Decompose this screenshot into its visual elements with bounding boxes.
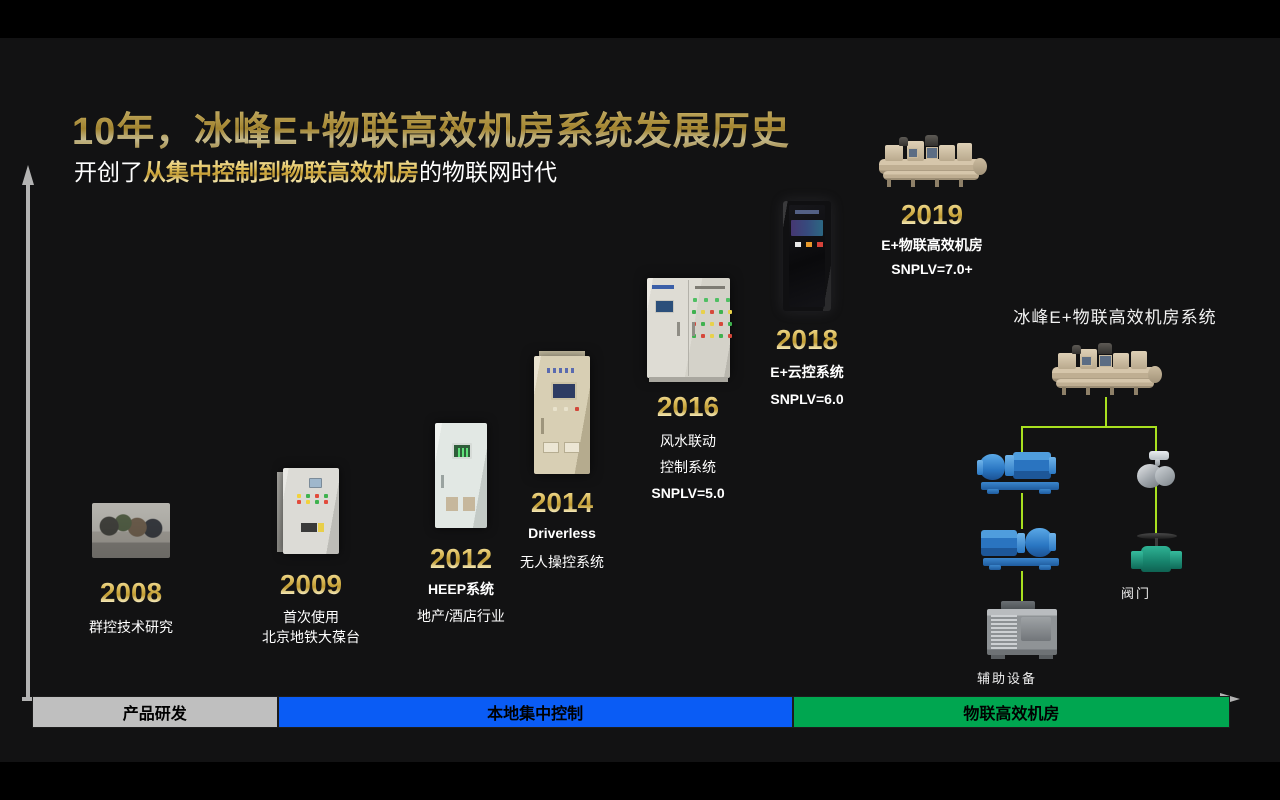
subtitle-highlight: 从集中控制到物联高效机房 [143, 159, 419, 185]
milestone-2019[interactable]: 2019 E+物联高效机房 SNPLV=7.0+ [853, 133, 1011, 279]
wire-pump2-to-aux [1021, 571, 1023, 603]
wire-valve1-to-valve2 [1155, 486, 1157, 534]
centrifugal-chiller-icon [877, 133, 987, 188]
phase-label: 物联高效机房 [963, 700, 1059, 724]
phase-bar: 产品研发 本地集中控制 物联高效机房 [32, 696, 1230, 728]
milestone-desc-line: 群控技术研究 [52, 617, 210, 637]
page-subtitle: 开创了从集中控制到物联高效机房的物联网时代 [74, 153, 557, 187]
milestone-desc-line: 控制系统 [609, 457, 767, 477]
milestone-desc-line: 首次使用 [232, 607, 390, 627]
milestone-desc-line: SNPLV=5.0 [609, 483, 767, 503]
diagram-label-valve: 阀门 [1121, 583, 1151, 602]
subtitle-suffix: 的物联网时代 [419, 159, 557, 185]
milestone-desc-line: 风水联动 [609, 431, 767, 451]
milestone-desc-line: SNPLV=7.0+ [853, 259, 1011, 279]
diagram-gate-valve-icon[interactable] [1127, 531, 1187, 576]
phase-segment-iot-plantroom[interactable]: 物联高效机房 [793, 696, 1230, 728]
milestone-2008[interactable]: 2008 群控技术研究 [52, 503, 210, 637]
letterbox-top [0, 0, 1280, 38]
control-cabinet-mint-icon [435, 423, 487, 528]
phase-label: 产品研发 [123, 700, 187, 724]
team-photo-icon [92, 503, 170, 558]
system-diagram: 冰峰E+物联高效机房系统 [955, 303, 1275, 703]
milestone-year: 2019 [853, 200, 1011, 231]
diagram-chiller-icon[interactable] [1050, 341, 1162, 397]
milestone-desc-line: 北京地铁大葆台 [232, 627, 390, 647]
milestone-year: 2009 [232, 570, 390, 601]
diagram-auxiliary-equipment-icon[interactable] [983, 601, 1061, 663]
milestone-desc-line: E+物联高效机房 [853, 235, 1011, 255]
wire-chiller-down [1105, 397, 1107, 427]
milestone-desc-line: Driverless [483, 523, 641, 543]
slide-canvas: 10年，冰峰E+物联高效机房系统发展历史 开创了从集中控制到物联高效机房的物联网… [0, 38, 1280, 762]
milestone-desc-line: 无人操控系统 [483, 552, 641, 572]
control-panel-wide-icon [647, 278, 730, 378]
control-cabinet-tan-icon [534, 356, 590, 474]
wire-pump1-to-pump2 [1021, 493, 1023, 529]
milestone-2009[interactable]: 2009 首次使用 北京地铁大葆台 [232, 468, 390, 647]
phase-segment-local-control[interactable]: 本地集中控制 [278, 696, 793, 728]
milestone-desc-line: SNPLV=6.0 [728, 389, 886, 409]
diagram-label-auxiliary: 辅助设备 [977, 668, 1037, 687]
phase-segment-research[interactable]: 产品研发 [32, 696, 278, 728]
control-cabinet-black-icon [783, 201, 831, 311]
milestone-year: 2008 [52, 578, 210, 609]
diagram-butterfly-valve-icon[interactable] [1131, 451, 1183, 489]
diagram-pump-secondary-icon[interactable] [977, 525, 1069, 573]
vertical-axis-arrow [22, 165, 34, 700]
subtitle-prefix: 开创了 [74, 159, 143, 185]
control-cabinet-gray-icon [283, 468, 339, 554]
milestone-desc-line: 地产/酒店行业 [382, 606, 540, 626]
wire-horizontal-branch [1021, 426, 1157, 428]
milestone-year: 2018 [728, 325, 886, 356]
up-arrow-icon [22, 165, 34, 185]
milestone-desc-line: E+云控系统 [728, 362, 886, 382]
milestone-desc-line: HEEP系统 [382, 579, 540, 599]
phase-label: 本地集中控制 [487, 700, 583, 724]
letterbox-bottom [0, 762, 1280, 800]
page-title: 10年，冰峰E+物联高效机房系统发展历史 [72, 100, 790, 155]
system-diagram-title: 冰峰E+物联高效机房系统 [955, 303, 1275, 328]
diagram-pump-primary-icon[interactable] [977, 448, 1069, 496]
